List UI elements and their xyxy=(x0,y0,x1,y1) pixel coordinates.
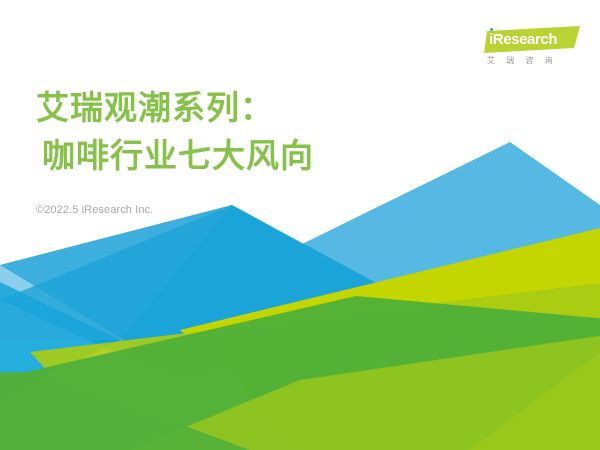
logo-wordmark-text: Research xyxy=(493,32,557,47)
copyright-notice: ©2022.5 iResearch Inc. xyxy=(36,204,153,216)
page-title: 艾瑞观潮系列： 咖啡行业七大风向 xyxy=(36,84,466,180)
page-title-line-2: 咖啡行业七大风向 xyxy=(36,132,466,180)
page-title-line-1: 艾瑞观潮系列： xyxy=(36,84,466,132)
logo-subtitle: 艾 瑞 咨 询 xyxy=(487,55,579,66)
slide-canvas: iResearch 艾 瑞 咨 询 艾瑞观潮系列： 咖啡行业七大风向 ©2022… xyxy=(0,0,600,450)
logo-wordmark: iResearch xyxy=(484,26,580,53)
logo-blue-dot-icon xyxy=(490,28,493,31)
iresearch-logo: iResearch 艾 瑞 咨 询 xyxy=(484,26,580,72)
